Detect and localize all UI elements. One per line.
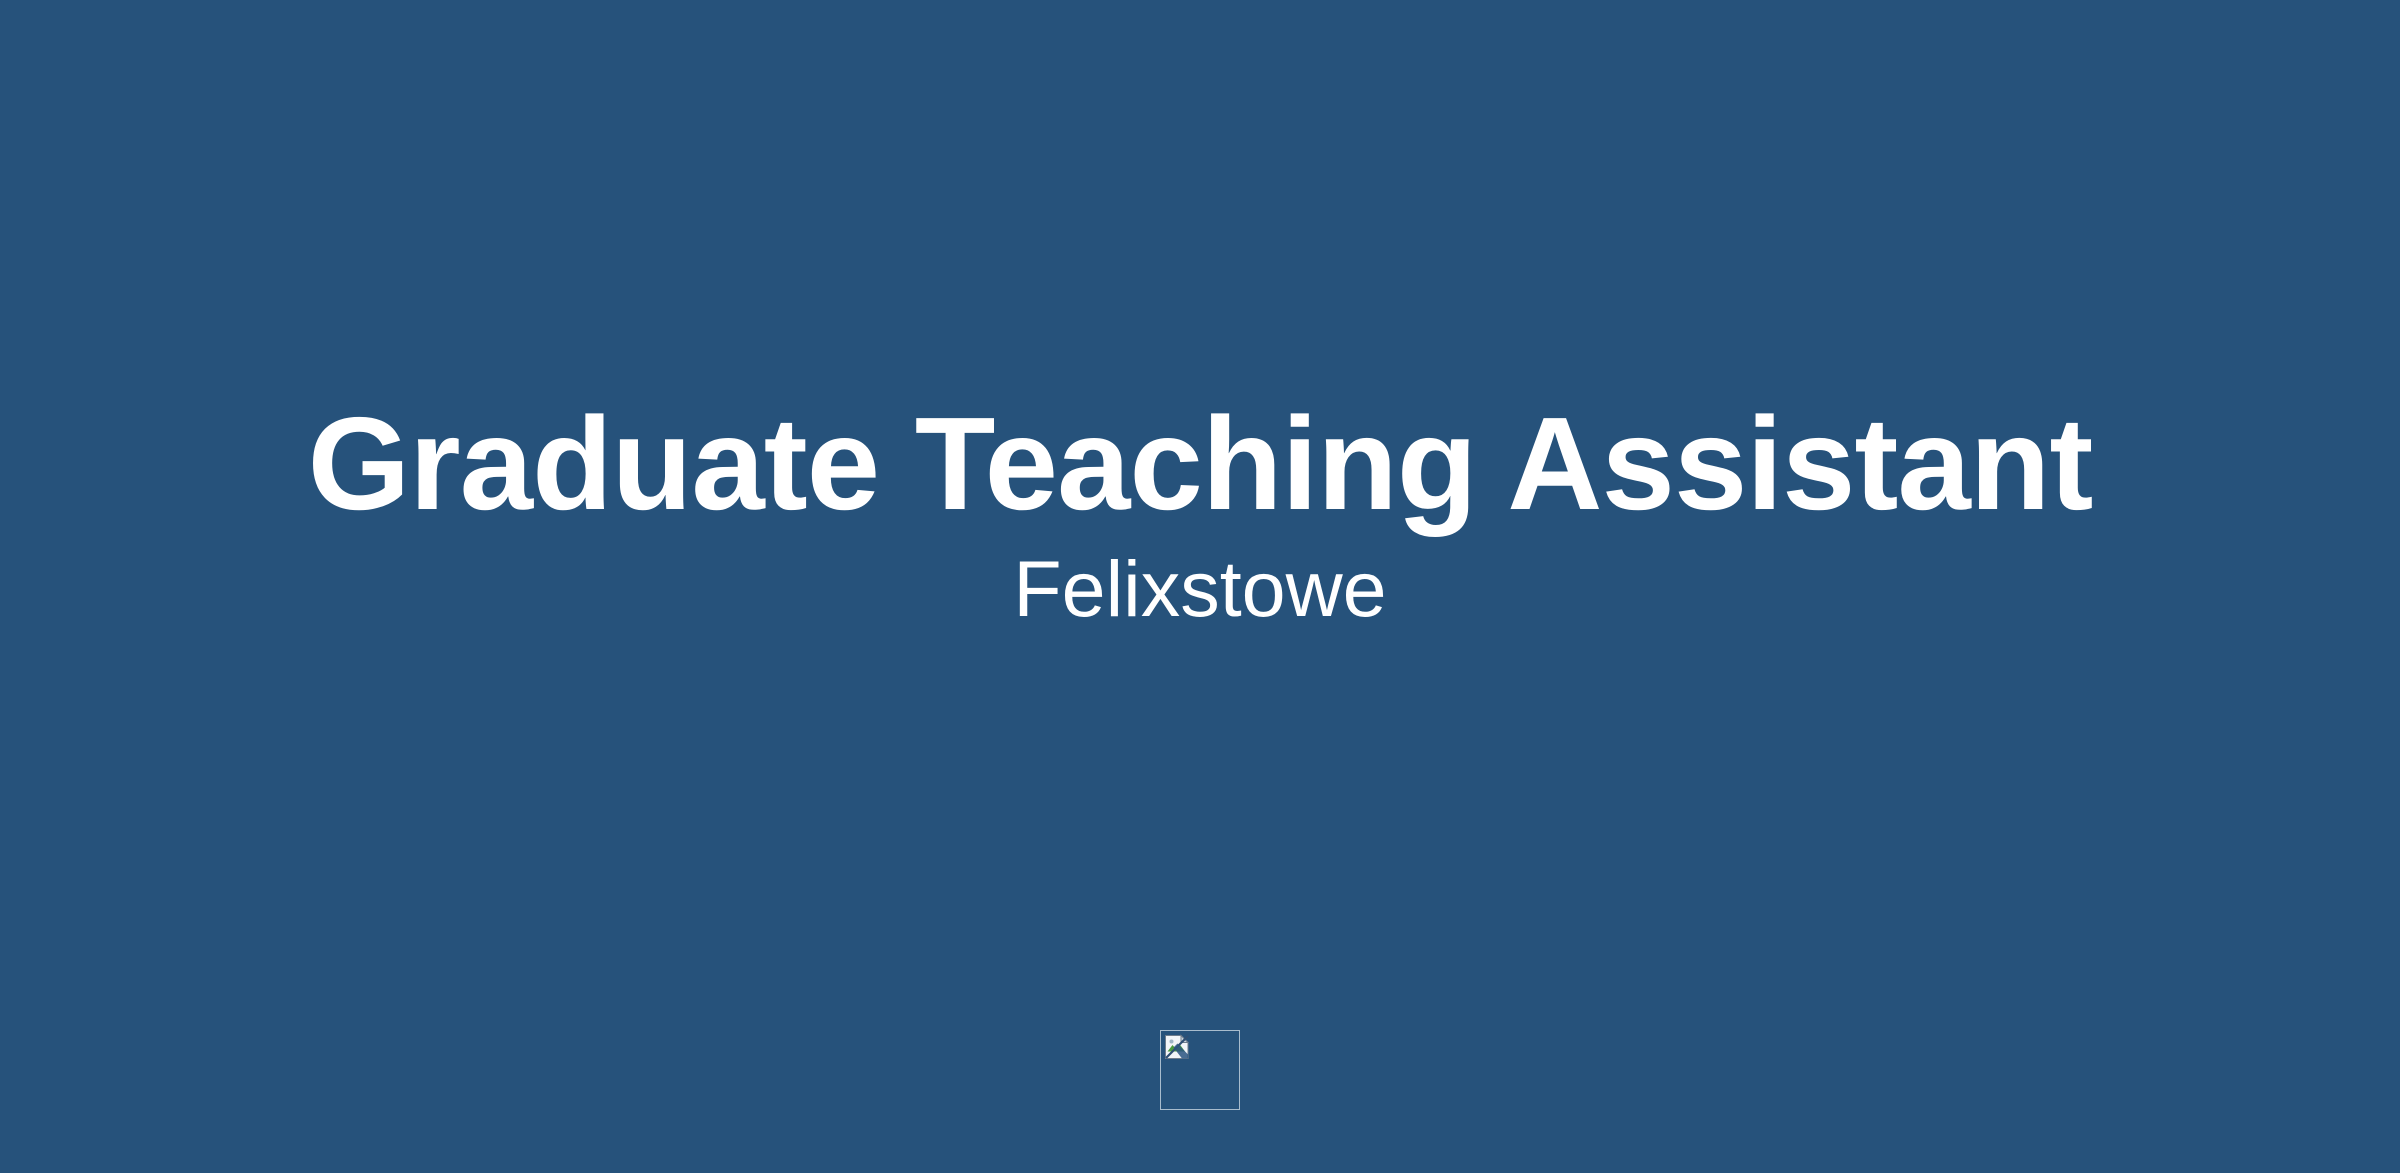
broken-image-icon [1164, 1034, 1190, 1060]
page-subtitle: Felixstowe [0, 549, 2400, 628]
hero-section: Graduate Teaching Assistant Felixstowe [0, 0, 2400, 1173]
page-title: Graduate Teaching Assistant [0, 398, 2400, 530]
broken-image-placeholder[interactable] [1160, 1030, 1240, 1110]
slide-canvas: Graduate Teaching Assistant Felixstowe [0, 0, 2400, 1173]
media-slot [0, 1030, 2400, 1110]
